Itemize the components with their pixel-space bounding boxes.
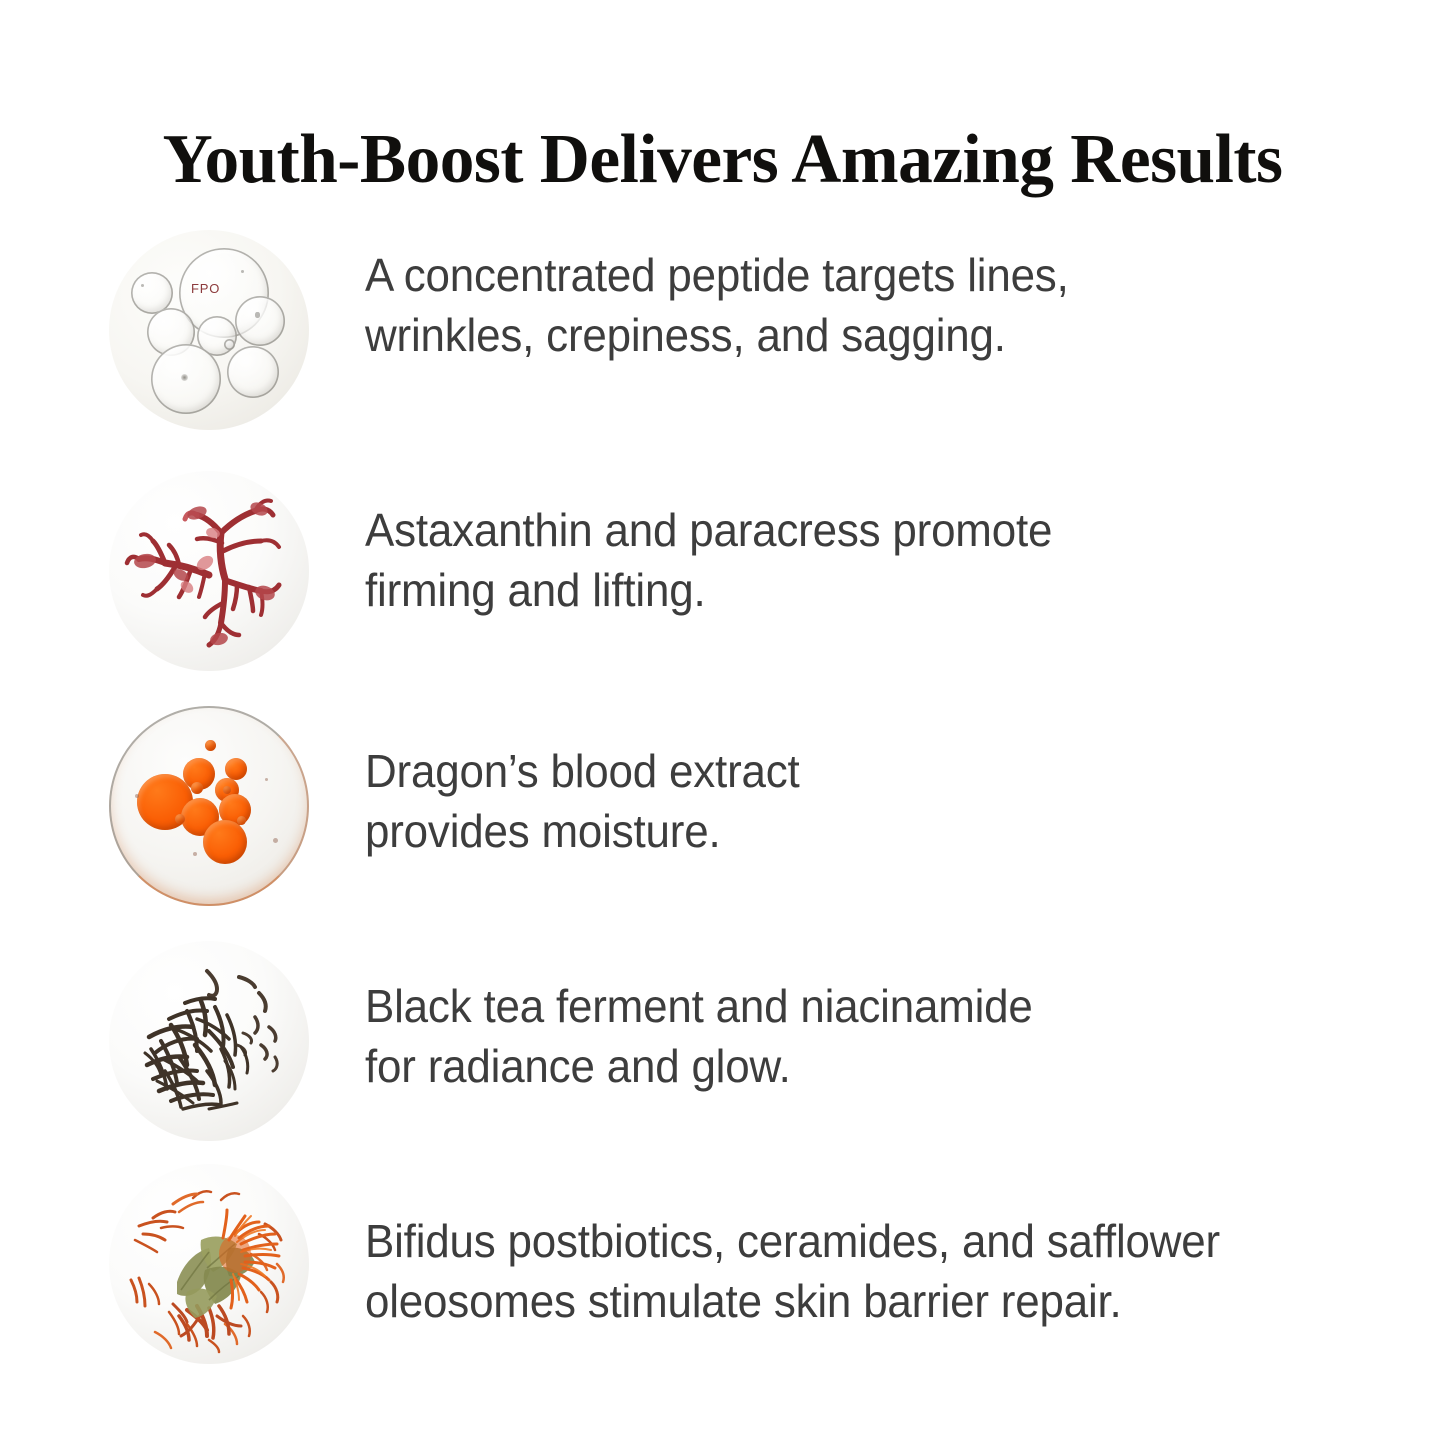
petri-dish-plate (109, 706, 309, 906)
safflower-illustration (109, 1164, 309, 1364)
droplet (227, 346, 279, 398)
list-item: FPO A concentrated peptide targets lines… (0, 224, 1445, 459)
list-item: Black tea ferment and niacinamide for ra… (0, 929, 1445, 1164)
safflower-icon (109, 1164, 309, 1364)
droplet (224, 339, 235, 350)
list-item: Astaxanthin and paracress promote firmin… (0, 459, 1445, 694)
tea-plate (109, 941, 309, 1141)
tea-leaves-illustration (109, 941, 309, 1141)
seaweed-plate (109, 471, 309, 671)
list-item: Bifidus postbiotics, ceramides, and saff… (0, 1164, 1445, 1399)
list-item-label: Dragon’s blood extract provides moisture… (365, 694, 1396, 862)
fpo-placeholder-label: FPO (191, 281, 220, 296)
speck (241, 270, 244, 273)
dish-rim (109, 706, 309, 906)
speck (141, 284, 144, 287)
infographic-page: Youth-Boost Delivers Amazing Results (0, 0, 1445, 1445)
red-seaweed-icon (109, 471, 309, 671)
safflower-plate (109, 1164, 309, 1364)
list-item-label: Black tea ferment and niacinamide for ra… (365, 929, 1396, 1097)
droplet (235, 296, 285, 346)
orange-oil-droplets-icon (109, 706, 309, 906)
speck (255, 312, 260, 318)
benefits-list: FPO A concentrated peptide targets lines… (0, 224, 1445, 1399)
black-tea-leaves-icon (109, 941, 309, 1141)
list-item-label: A concentrated peptide targets lines, wr… (365, 224, 1396, 366)
serum-plate: FPO (109, 230, 309, 430)
list-item-label: Astaxanthin and paracress promote firmin… (365, 459, 1396, 621)
speck (181, 374, 188, 381)
serum-droplets-icon: FPO (109, 230, 309, 430)
list-item: Dragon’s blood extract provides moisture… (0, 694, 1445, 929)
seaweed-illustration (109, 471, 309, 671)
page-title: Youth-Boost Delivers Amazing Results (7, 125, 1438, 195)
list-item-label: Bifidus postbiotics, ceramides, and saff… (365, 1164, 1396, 1332)
